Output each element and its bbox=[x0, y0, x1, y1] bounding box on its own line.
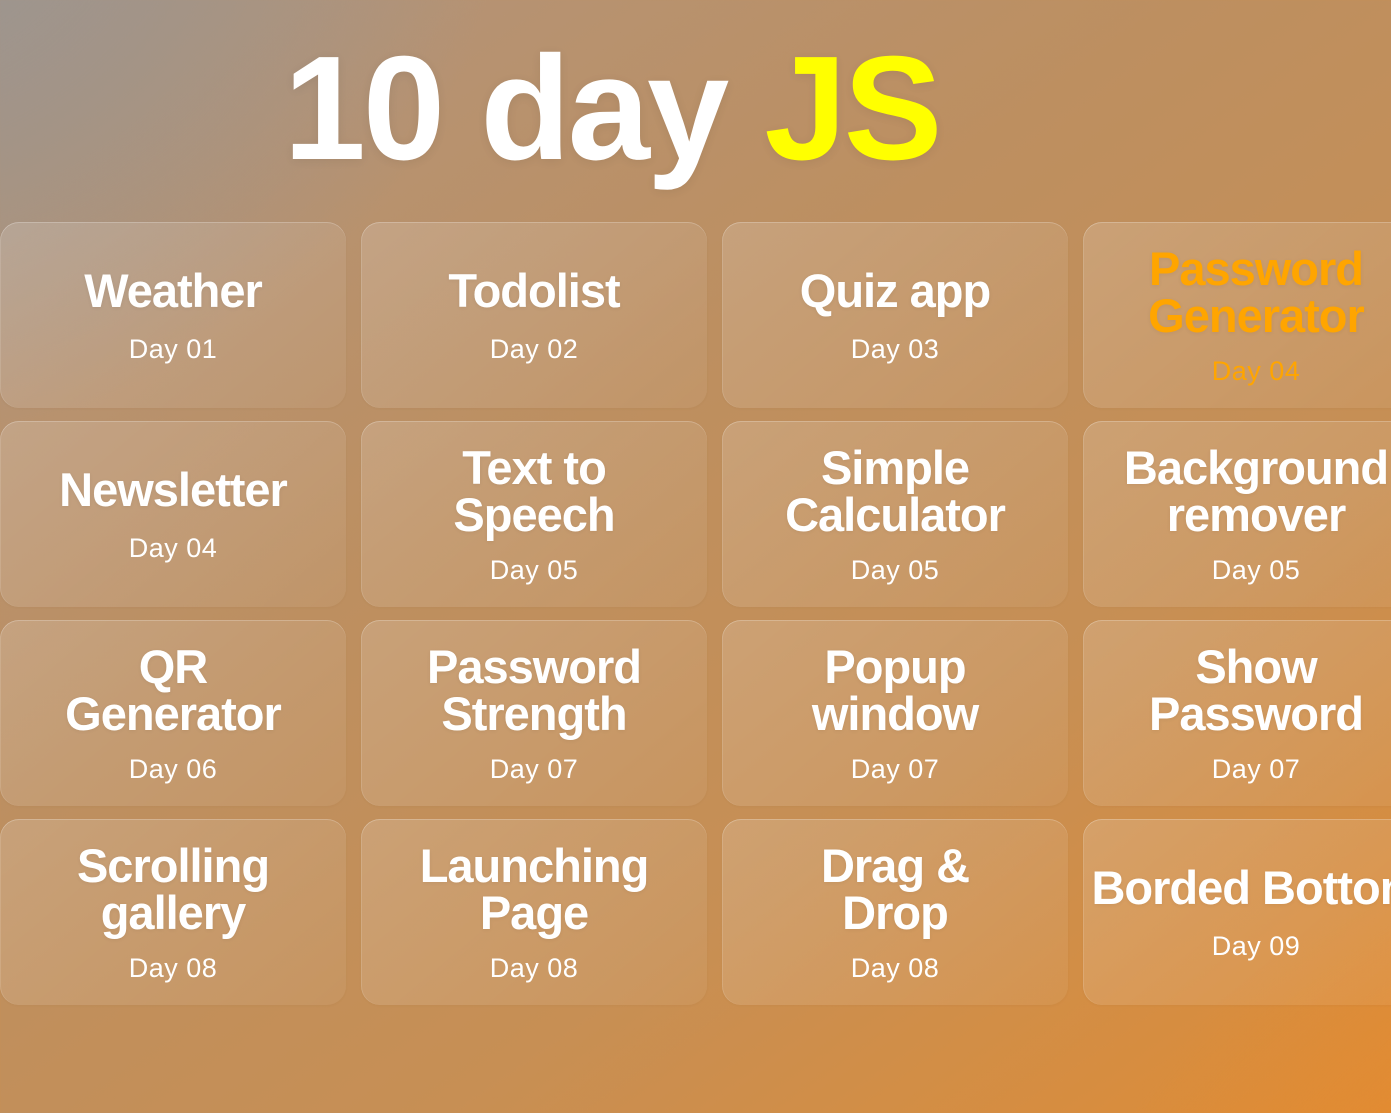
project-card-title: ShowPassword bbox=[1149, 643, 1363, 737]
project-card-title-line: QR bbox=[65, 643, 281, 690]
project-card-day-label: Day 08 bbox=[851, 955, 940, 982]
project-card[interactable]: SimpleCalculatorDay 05 bbox=[722, 421, 1068, 607]
project-card-title-line: Simple bbox=[785, 444, 1005, 491]
project-card[interactable]: Drag &DropDay 08 bbox=[722, 819, 1068, 1005]
page-title-primary: 10 day bbox=[284, 26, 727, 191]
project-card-title: Borded Bottom bbox=[1091, 864, 1391, 911]
project-card-day-label: Day 05 bbox=[851, 557, 940, 584]
project-card-day-label: Day 08 bbox=[490, 955, 579, 982]
project-card-title: QRGenerator bbox=[65, 643, 281, 737]
project-card-title: SimpleCalculator bbox=[785, 444, 1005, 538]
project-card-day-label: Day 07 bbox=[851, 756, 940, 783]
project-card-title-line: Generator bbox=[1148, 292, 1364, 339]
project-card-title-line: Drag & bbox=[821, 842, 969, 889]
project-card-title-line: Newsletter bbox=[59, 466, 287, 513]
project-card-title: Weather bbox=[84, 267, 262, 314]
page-title: 10 day JS bbox=[284, 35, 940, 183]
project-card[interactable]: TodolistDay 02 bbox=[361, 222, 707, 408]
project-card-title-line: Text to bbox=[453, 444, 614, 491]
project-card[interactable]: Quiz appDay 03 bbox=[722, 222, 1068, 408]
project-card-title-line: Show bbox=[1149, 643, 1363, 690]
project-card-title-line: Popup bbox=[812, 643, 978, 690]
project-card-grid: WeatherDay 01TodolistDay 02Quiz appDay 0… bbox=[0, 222, 1391, 1005]
project-card-day-label: Day 05 bbox=[490, 557, 579, 584]
project-card-day-label: Day 02 bbox=[490, 336, 579, 363]
project-card-title-line: Speech bbox=[453, 491, 614, 538]
project-card-title: Quiz app bbox=[800, 267, 990, 314]
project-card-title: Backgroundremover bbox=[1124, 444, 1388, 538]
project-card-day-label: Day 08 bbox=[129, 955, 218, 982]
project-card-title-line: Background bbox=[1124, 444, 1388, 491]
project-card[interactable]: Borded BottomDay 09 bbox=[1083, 819, 1391, 1005]
project-card-title: PasswordStrength bbox=[427, 643, 641, 737]
project-card-day-label: Day 04 bbox=[1212, 358, 1301, 385]
project-card-title-line: Borded Bottom bbox=[1091, 864, 1391, 911]
project-card-title-line: window bbox=[812, 690, 978, 737]
project-card-day-label: Day 04 bbox=[129, 535, 218, 562]
project-card-title-line: Quiz app bbox=[800, 267, 990, 314]
project-card-day-label: Day 07 bbox=[1212, 756, 1301, 783]
project-card-title-line: Calculator bbox=[785, 491, 1005, 538]
project-card[interactable]: PasswordGeneratorDay 04 bbox=[1083, 222, 1391, 408]
project-card-title-line: Password bbox=[1149, 690, 1363, 737]
project-card[interactable]: PasswordStrengthDay 07 bbox=[361, 620, 707, 806]
project-card-day-label: Day 03 bbox=[851, 336, 940, 363]
project-card-title-line: Password bbox=[1148, 245, 1364, 292]
page-title-accent: JS bbox=[764, 26, 939, 191]
project-card-title: Todolist bbox=[448, 267, 619, 314]
project-card[interactable]: WeatherDay 01 bbox=[0, 222, 346, 408]
project-card-title: Popupwindow bbox=[812, 643, 978, 737]
project-card-title-line: Todolist bbox=[448, 267, 619, 314]
project-card-day-label: Day 07 bbox=[490, 756, 579, 783]
project-card[interactable]: NewsletterDay 04 bbox=[0, 421, 346, 607]
project-card-day-label: Day 05 bbox=[1212, 557, 1301, 584]
project-card-title: Text toSpeech bbox=[453, 444, 614, 538]
project-card-day-label: Day 01 bbox=[129, 336, 218, 363]
project-card-title-line: Password bbox=[427, 643, 641, 690]
page-header: 10 day JS bbox=[0, 0, 1391, 218]
project-card[interactable]: ShowPasswordDay 07 bbox=[1083, 620, 1391, 806]
project-card-title: LaunchingPage bbox=[420, 842, 649, 936]
project-card-title: Scrollinggallery bbox=[77, 842, 269, 936]
project-card-title-line: remover bbox=[1124, 491, 1388, 538]
project-card[interactable]: ScrollinggalleryDay 08 bbox=[0, 819, 346, 1005]
project-card-title: Newsletter bbox=[59, 466, 287, 513]
project-card[interactable]: LaunchingPageDay 08 bbox=[361, 819, 707, 1005]
project-card-title-line: Strength bbox=[427, 690, 641, 737]
project-card-day-label: Day 09 bbox=[1212, 933, 1301, 960]
project-card-title-line: Scrolling bbox=[77, 842, 269, 889]
project-card-title-line: Generator bbox=[65, 690, 281, 737]
project-card-title-line: gallery bbox=[77, 889, 269, 936]
project-card-day-label: Day 06 bbox=[129, 756, 218, 783]
project-card-title-line: Drop bbox=[821, 889, 969, 936]
project-card-title-line: Page bbox=[420, 889, 649, 936]
project-card-title: PasswordGenerator bbox=[1148, 245, 1364, 339]
project-card[interactable]: Text toSpeechDay 05 bbox=[361, 421, 707, 607]
project-card-title-line: Weather bbox=[84, 267, 262, 314]
project-card-title: Drag &Drop bbox=[821, 842, 969, 936]
project-card[interactable]: BackgroundremoverDay 05 bbox=[1083, 421, 1391, 607]
project-card[interactable]: PopupwindowDay 07 bbox=[722, 620, 1068, 806]
project-card-title-line: Launching bbox=[420, 842, 649, 889]
project-card[interactable]: QRGeneratorDay 06 bbox=[0, 620, 346, 806]
